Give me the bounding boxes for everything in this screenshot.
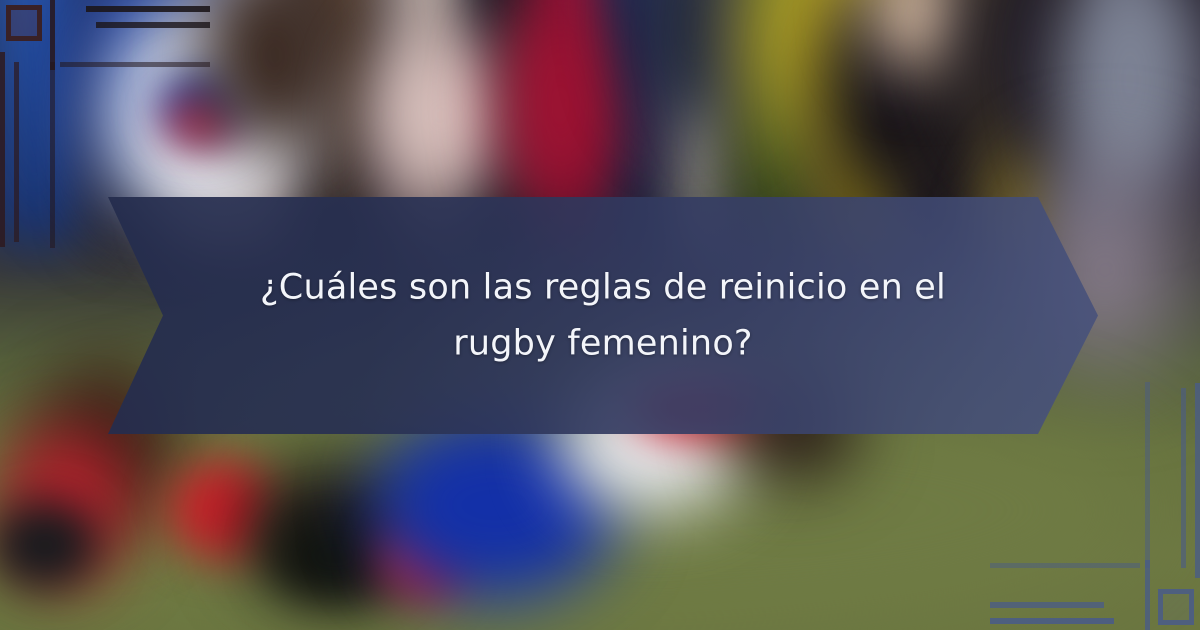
blurred-figure (500, 0, 620, 210)
share-card: ¿Cuáles son las reglas de reinicio en el… (0, 0, 1200, 630)
blurred-figure (370, 30, 510, 200)
question-banner: ¿Cuáles son las reglas de reinicio en el… (108, 197, 1098, 434)
question-text: ¿Cuáles son las reglas de reinicio en el… (228, 259, 978, 372)
